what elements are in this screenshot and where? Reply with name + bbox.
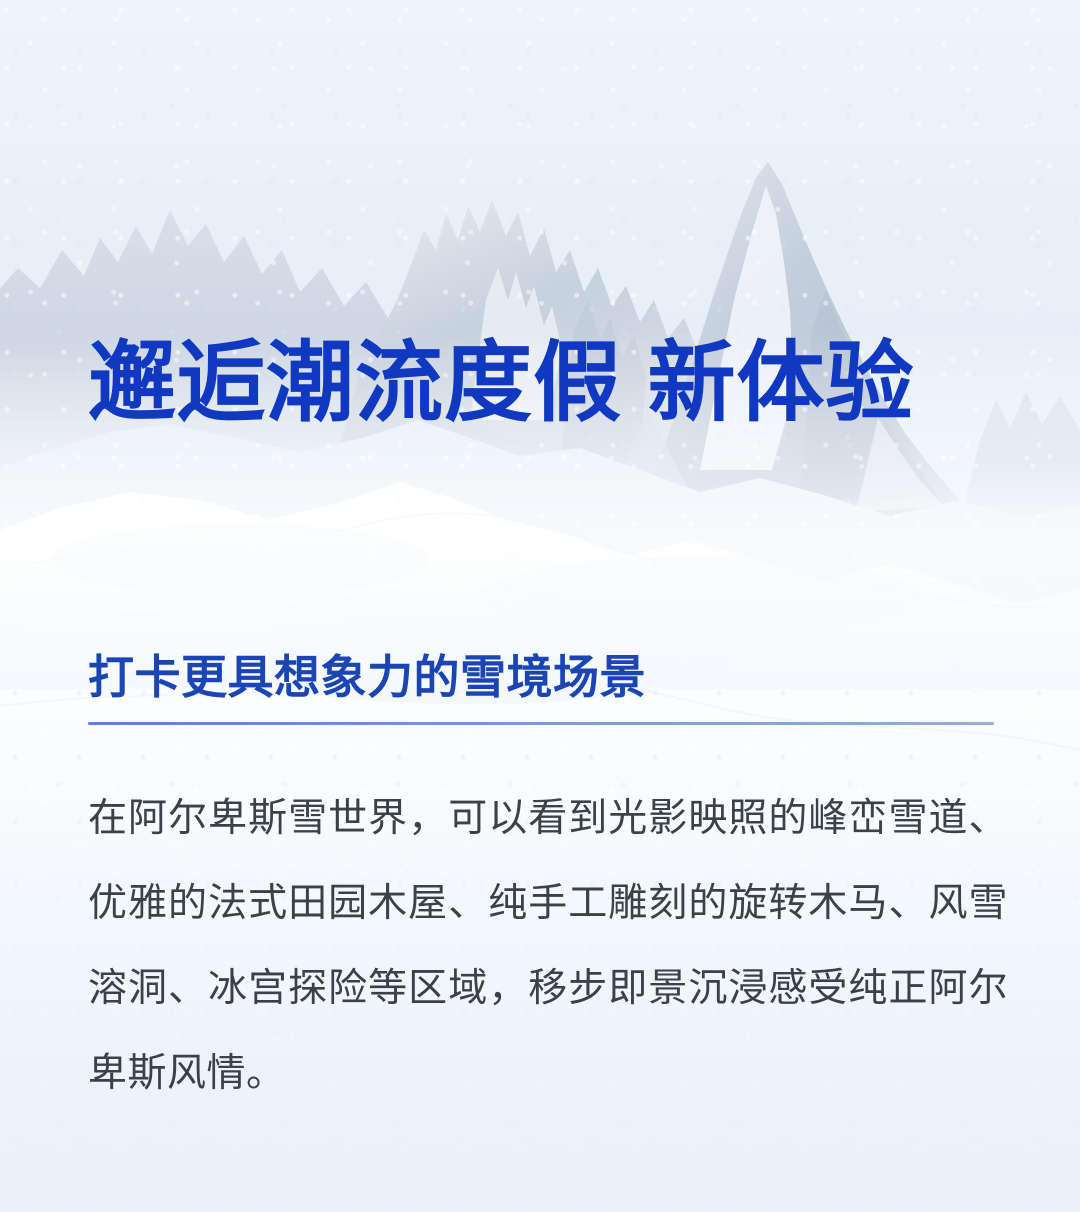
poster-canvas: 邂逅潮流度假 新体验 打卡更具想象力的雪境场景 在阿尔卑斯雪世界，可以看到光影映… <box>0 0 1080 1212</box>
headline: 邂逅潮流度假 新体验 <box>88 336 914 429</box>
body-paragraph: 在阿尔卑斯雪世界，可以看到光影映照的峰峦雪道、优雅的法式田园木屋、纯手工雕刻的旋… <box>88 776 1008 1116</box>
section-title: 打卡更具想象力的雪境场景 <box>88 652 994 704</box>
section-header: 打卡更具想象力的雪境场景 <box>88 652 994 725</box>
section-divider <box>88 722 994 725</box>
